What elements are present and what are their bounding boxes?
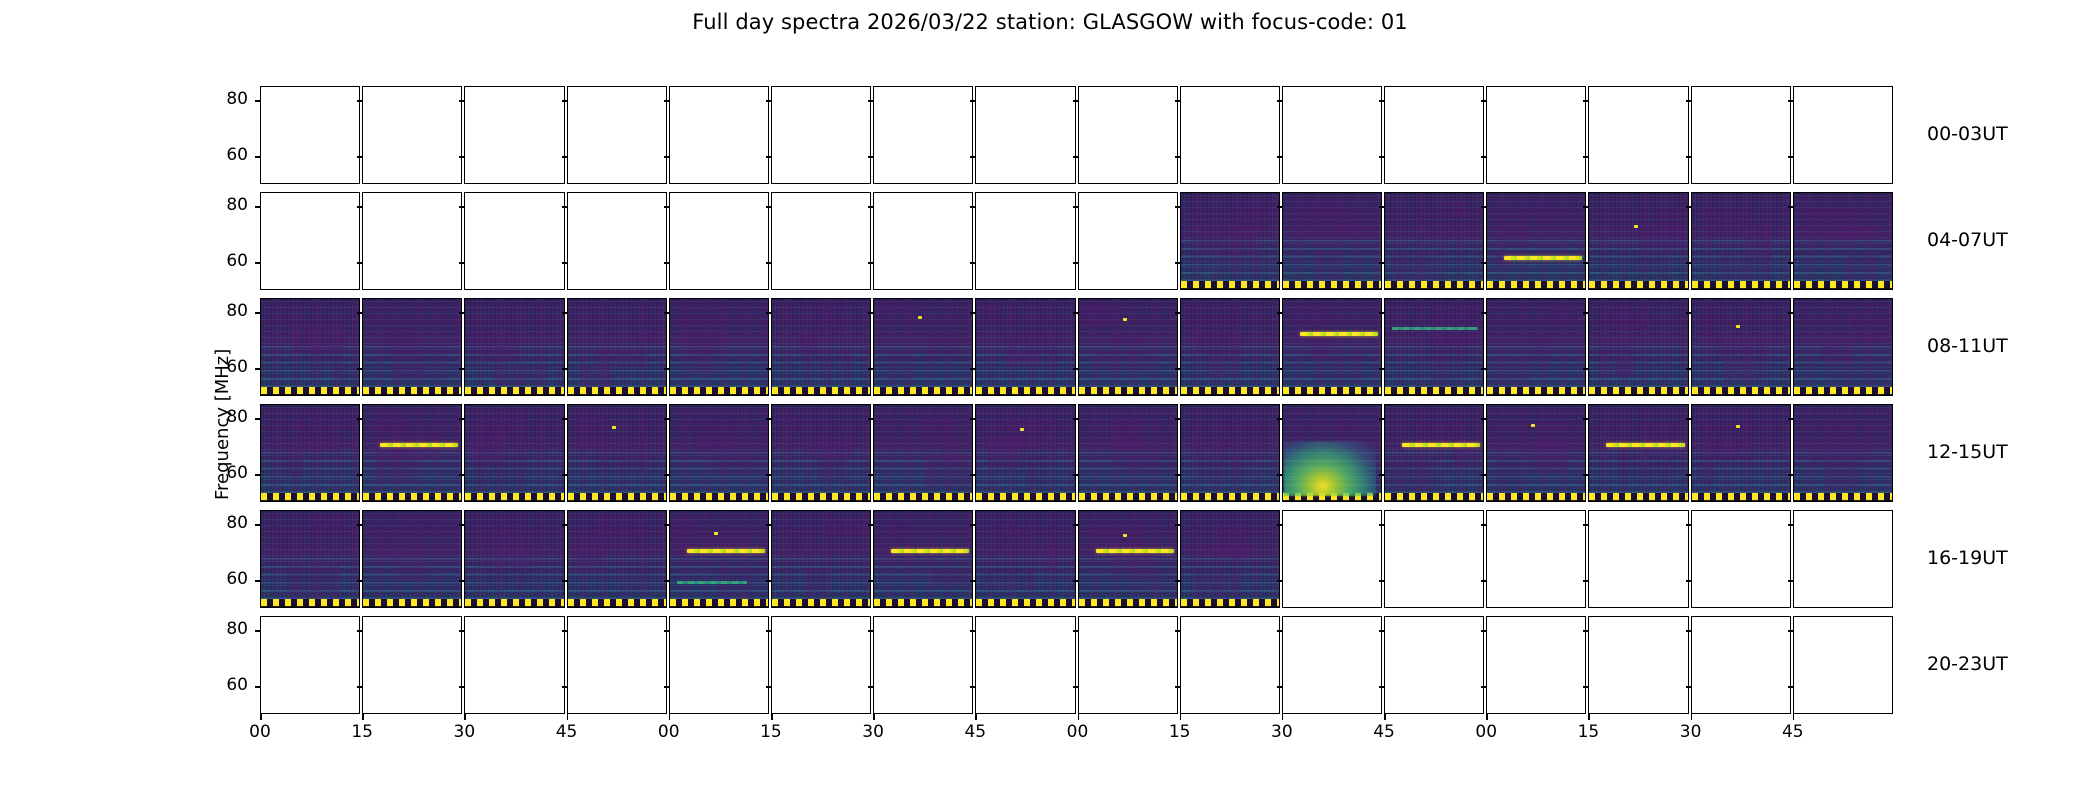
rfi-speckle [1531,424,1535,427]
spectrogram-data [1079,299,1177,395]
x-tick-mark [567,714,569,720]
y-tick-mark [1788,524,1794,526]
spectrogram-panel [1588,404,1688,502]
keying-strip [568,493,666,501]
y-tick-mark [970,368,976,370]
spectrogram-panel [771,510,871,608]
keying-strip [1181,387,1279,395]
spectrogram-data [261,511,359,607]
y-tick-mark [1481,580,1487,582]
y-tick-mark [357,368,363,370]
spectrogram-panel [1691,404,1791,502]
spectrogram-panel [1486,86,1586,184]
spectrogram-data [465,405,563,501]
y-tick-mark [1073,580,1079,582]
y-tick-mark [459,524,465,526]
y-tick-label: 80 [208,301,248,321]
row-label-12-15ut: 12-15UT [1927,441,2008,463]
y-tick-mark [1788,206,1794,208]
y-tick-label: 80 [208,619,248,639]
x-tick-mark [1078,714,1080,720]
spectrogram-panel [464,298,564,396]
keying-strip [363,493,461,501]
spectrogram-panel [567,404,667,502]
spectrogram-panel [1282,510,1382,608]
y-tick-mark [1686,368,1692,370]
row-label-20-23ut: 20-23UT [1927,653,2008,675]
x-tick-mark [1691,714,1693,720]
spectrogram-panel [1180,86,1280,184]
y-tick-mark [1583,368,1589,370]
spectrogram-panel [1486,616,1586,714]
y-tick-mark [766,686,772,688]
y-tick-mark [357,630,363,632]
spectrogram-panel [362,298,462,396]
y-tick-mark [664,100,670,102]
y-tick-mark [664,474,670,476]
y-tick-mark [562,686,568,688]
spectrogram-panel [1588,192,1688,290]
spectrogram-panel [873,404,973,502]
y-tick-mark [1481,686,1487,688]
spectrogram-panel [567,616,667,714]
spectrogram-panel [1691,510,1791,608]
y-tick-mark [1686,630,1692,632]
row-label-08-11ut: 08-11UT [1927,335,2008,357]
y-tick-mark [1583,262,1589,264]
y-tick-mark [357,580,363,582]
y-tick-label: 80 [208,89,248,109]
spectrogram-panel [362,616,462,714]
y-tick-mark [1788,418,1794,420]
y-tick-mark [357,686,363,688]
keying-strip [363,599,461,607]
spectrogram-panel [1691,298,1791,396]
y-tick-mark [1481,418,1487,420]
keying-strip [363,387,461,395]
spectrogram-panel [975,298,1075,396]
spectrogram-data [568,511,666,607]
spectrogram-data [772,511,870,607]
spectrogram-data [1692,299,1790,395]
y-tick-mark [1277,418,1283,420]
rfi-speckle [1736,425,1740,428]
y-tick-label: 60 [208,251,248,271]
y-tick-mark [1379,524,1385,526]
y-tick-mark [1583,630,1589,632]
spectrogram-panel [1588,510,1688,608]
spectrogram-panel [1691,192,1791,290]
keying-strip [465,599,563,607]
y-tick-mark [1481,312,1487,314]
spectrogram-data [1283,193,1381,289]
spectrogram-panel [362,404,462,502]
y-tick-mark [970,418,976,420]
spectrogram-panel [1384,404,1484,502]
keying-strip [261,599,359,607]
keying-strip [1794,387,1892,395]
y-tick-mark [1788,262,1794,264]
y-tick-mark [1073,156,1079,158]
y-tick-mark [970,580,976,582]
y-tick-mark [766,206,772,208]
y-tick-mark [1175,262,1181,264]
y-tick-mark [255,206,261,208]
y-tick-mark [970,156,976,158]
spectrogram-data [670,511,768,607]
y-tick-mark [1481,474,1487,476]
y-tick-mark [970,686,976,688]
rfi-speckle [1020,428,1024,431]
y-tick-mark [868,156,874,158]
spectrogram-panel [1180,616,1280,714]
x-tick-label: 00 [1456,722,1516,742]
y-tick-mark [664,156,670,158]
y-tick-mark [255,686,261,688]
spectrogram-panel [1282,86,1382,184]
y-tick-mark [1175,630,1181,632]
spectrogram-panel [1078,192,1178,290]
y-tick-mark [255,524,261,526]
y-tick-mark [868,368,874,370]
keying-strip [1181,281,1279,289]
narrowband-trace [677,581,747,584]
y-tick-label: 60 [208,569,248,589]
rfi-speckle [1123,534,1127,537]
y-tick-mark [1686,156,1692,158]
y-tick-mark [357,418,363,420]
y-tick-label: 60 [208,145,248,165]
y-tick-mark [1379,418,1385,420]
keying-strip [1794,493,1892,501]
spectrogram-panel [975,192,1075,290]
spectrogram-data [670,299,768,395]
y-tick-mark [970,206,976,208]
y-tick-mark [868,206,874,208]
keying-strip [772,599,870,607]
spectrogram-panel [464,192,564,290]
x-tick-label: 00 [639,722,699,742]
y-tick-mark [1175,580,1181,582]
spectrogram-data [1385,299,1483,395]
spectrogram-data [1181,405,1279,501]
y-tick-mark [664,206,670,208]
y-tick-mark [766,262,772,264]
row-label-16-19ut: 16-19UT [1927,547,2008,569]
y-tick-mark [357,156,363,158]
keying-strip [1487,493,1585,501]
y-tick-mark [255,156,261,158]
y-tick-mark [970,100,976,102]
spectrogram-panel [1588,616,1688,714]
rfi-speckle [1123,318,1127,321]
spectrogram-panel [669,192,769,290]
y-tick-mark [459,630,465,632]
y-tick-mark [970,524,976,526]
y-tick-mark [1073,686,1079,688]
spectrogram-data [1181,193,1279,289]
keying-strip [1079,387,1177,395]
y-tick-mark [868,312,874,314]
y-tick-mark [1788,368,1794,370]
spectrogram-panel [771,192,871,290]
y-tick-mark [1277,100,1283,102]
y-tick-mark [562,630,568,632]
y-tick-mark [1788,100,1794,102]
y-tick-mark [1583,580,1589,582]
y-tick-mark [1073,368,1079,370]
y-tick-mark [766,524,772,526]
spectrogram-data [1181,299,1279,395]
y-tick-mark [562,580,568,582]
narrowband-trace [380,443,458,447]
spectrogram-data [976,511,1074,607]
y-tick-mark [1379,630,1385,632]
x-tick-mark [1486,714,1488,720]
spectrogram-data [1692,405,1790,501]
y-tick-mark [868,100,874,102]
keying-strip [568,599,666,607]
keying-strip [1283,281,1381,289]
y-tick-mark [970,630,976,632]
spectrogram-panel [1793,86,1893,184]
x-tick-label: 30 [843,722,903,742]
spectrogram-data [1794,299,1892,395]
spectrogram-data [568,299,666,395]
y-tick-mark [1481,206,1487,208]
keying-strip [1385,387,1483,395]
keying-strip [1487,387,1585,395]
spectrogram-panel [1384,86,1484,184]
y-tick-mark [664,630,670,632]
y-tick-mark [868,262,874,264]
y-tick-mark [1481,262,1487,264]
y-tick-mark [1686,686,1692,688]
y-tick-mark [1379,262,1385,264]
y-tick-mark [1277,630,1283,632]
spectrogram-data [1794,405,1892,501]
y-tick-label: 80 [208,513,248,533]
y-tick-mark [1583,100,1589,102]
spectrogram-data [874,299,972,395]
narrowband-trace [1096,549,1174,553]
y-tick-mark [1686,262,1692,264]
spectrogram-data [1589,405,1687,501]
spectrogram-panel [464,616,564,714]
x-tick-label: 45 [1763,722,1823,742]
spectrogram-data [1589,299,1687,395]
x-tick-mark [260,714,262,720]
y-tick-mark [1686,524,1692,526]
spectrogram-panel [1384,510,1484,608]
spectrogram-data [670,405,768,501]
y-tick-mark [1686,474,1692,476]
y-tick-mark [1379,580,1385,582]
spectrogram-panel [873,616,973,714]
spectrogram-panel [260,404,360,502]
y-tick-mark [357,474,363,476]
y-tick-mark [459,156,465,158]
spectrogram-panel [1078,616,1178,714]
y-tick-mark [664,418,670,420]
y-tick-mark [1481,630,1487,632]
y-tick-label: 60 [208,463,248,483]
spectrogram-panel [1793,510,1893,608]
y-tick-mark [664,312,670,314]
spectrogram-panel [1078,404,1178,502]
spectrogram-panel [669,510,769,608]
y-tick-mark [1073,524,1079,526]
keying-strip [1589,281,1687,289]
y-tick-mark [1175,100,1181,102]
y-tick-mark [459,312,465,314]
y-tick-mark [1686,100,1692,102]
y-tick-mark [766,368,772,370]
spectrogram-panel [1282,616,1382,714]
y-tick-mark [1277,312,1283,314]
narrowband-trace [1606,443,1684,447]
spectrogram-panel [1078,510,1178,608]
spectrogram-panel [1588,86,1688,184]
y-tick-mark [1379,206,1385,208]
spectrogram-data [1079,405,1177,501]
keying-strip [1079,493,1177,501]
spectrogram-panel [1793,616,1893,714]
y-tick-mark [1073,100,1079,102]
y-tick-mark [459,206,465,208]
narrowband-trace [891,549,969,553]
narrowband-trace [687,549,765,553]
y-tick-mark [357,312,363,314]
rfi-speckle [1736,325,1740,328]
spectrogram-panel [771,616,871,714]
y-tick-mark [562,312,568,314]
x-tick-label: 15 [741,722,801,742]
spectrogram-panel [362,192,462,290]
y-tick-mark [1379,156,1385,158]
spectrogram-data [976,405,1074,501]
x-tick-label: 00 [230,722,290,742]
y-tick-mark [766,630,772,632]
spectrogram-data [1385,193,1483,289]
keying-strip [670,493,768,501]
keying-strip [261,387,359,395]
spectrogram-data [363,511,461,607]
y-tick-mark [1277,368,1283,370]
y-tick-mark [1073,418,1079,420]
spectrogram-data [465,299,563,395]
spectrogram-panel [1078,86,1178,184]
spectrogram-panel [1486,404,1586,502]
spectrogram-panel [260,510,360,608]
rfi-speckle [1634,225,1638,228]
keying-strip [1589,387,1687,395]
y-tick-mark [1788,474,1794,476]
spectrogram-panel [1588,298,1688,396]
spectrogram-panel [362,86,462,184]
x-tick-label: 45 [537,722,597,742]
narrowband-trace [1504,256,1582,260]
spectrogram-data [261,299,359,395]
spectrogram-panel [771,86,871,184]
spectrogram-panel [1180,510,1280,608]
keying-strip [1692,281,1790,289]
y-tick-label: 60 [208,675,248,695]
keying-strip [874,493,972,501]
y-tick-mark [255,418,261,420]
y-tick-mark [664,368,670,370]
spectrogram-panel [464,86,564,184]
spectrogram-panel [669,86,769,184]
keying-strip [1181,599,1279,607]
y-tick-mark [1788,156,1794,158]
spectrogram-panel [873,86,973,184]
narrowband-trace [1402,443,1480,447]
y-tick-mark [1686,418,1692,420]
keying-strip [1794,281,1892,289]
y-tick-mark [459,262,465,264]
spectrogram-data [874,511,972,607]
figure-title: Full day spectra 2026/03/22 station: GLA… [0,10,2100,34]
y-tick-mark [562,156,568,158]
x-tick-mark [1282,714,1284,720]
keying-strip [772,493,870,501]
y-tick-mark [1073,206,1079,208]
y-tick-mark [1788,312,1794,314]
spectrogram-data [1487,193,1585,289]
y-tick-mark [459,100,465,102]
spectrogram-data [261,405,359,501]
narrowband-trace [1300,332,1378,336]
spectrogram-data [465,511,563,607]
y-tick-mark [664,686,670,688]
x-tick-label: 30 [1252,722,1312,742]
keying-strip [1283,387,1381,395]
keying-strip [976,599,1074,607]
keying-strip [261,493,359,501]
spectrogram-panel [873,510,973,608]
y-tick-mark [868,418,874,420]
spectrogram-panel [1486,510,1586,608]
y-tick-mark [1073,630,1079,632]
spectrogram-data [1181,511,1279,607]
spectrogram-panel [1384,192,1484,290]
keying-strip [1692,387,1790,395]
y-tick-mark [1379,686,1385,688]
spectrogram-panel [362,510,462,608]
y-tick-label: 60 [208,357,248,377]
spectrogram-panel [1486,298,1586,396]
y-tick-mark [1481,100,1487,102]
keying-strip [1589,493,1687,501]
spectrogram-panel [669,404,769,502]
y-tick-mark [1481,156,1487,158]
y-tick-mark [1175,206,1181,208]
broadband-burst [1284,441,1376,496]
spectrogram-panel [1282,298,1382,396]
y-tick-mark [1277,206,1283,208]
x-tick-mark [975,714,977,720]
y-tick-mark [1583,686,1589,688]
y-tick-mark [868,630,874,632]
spectrogram-data [1283,299,1381,395]
y-tick-label: 80 [208,195,248,215]
spectrogram-panel [1384,298,1484,396]
y-tick-mark [255,312,261,314]
spectrogram-panel [669,616,769,714]
keying-strip [874,599,972,607]
y-tick-mark [1379,368,1385,370]
